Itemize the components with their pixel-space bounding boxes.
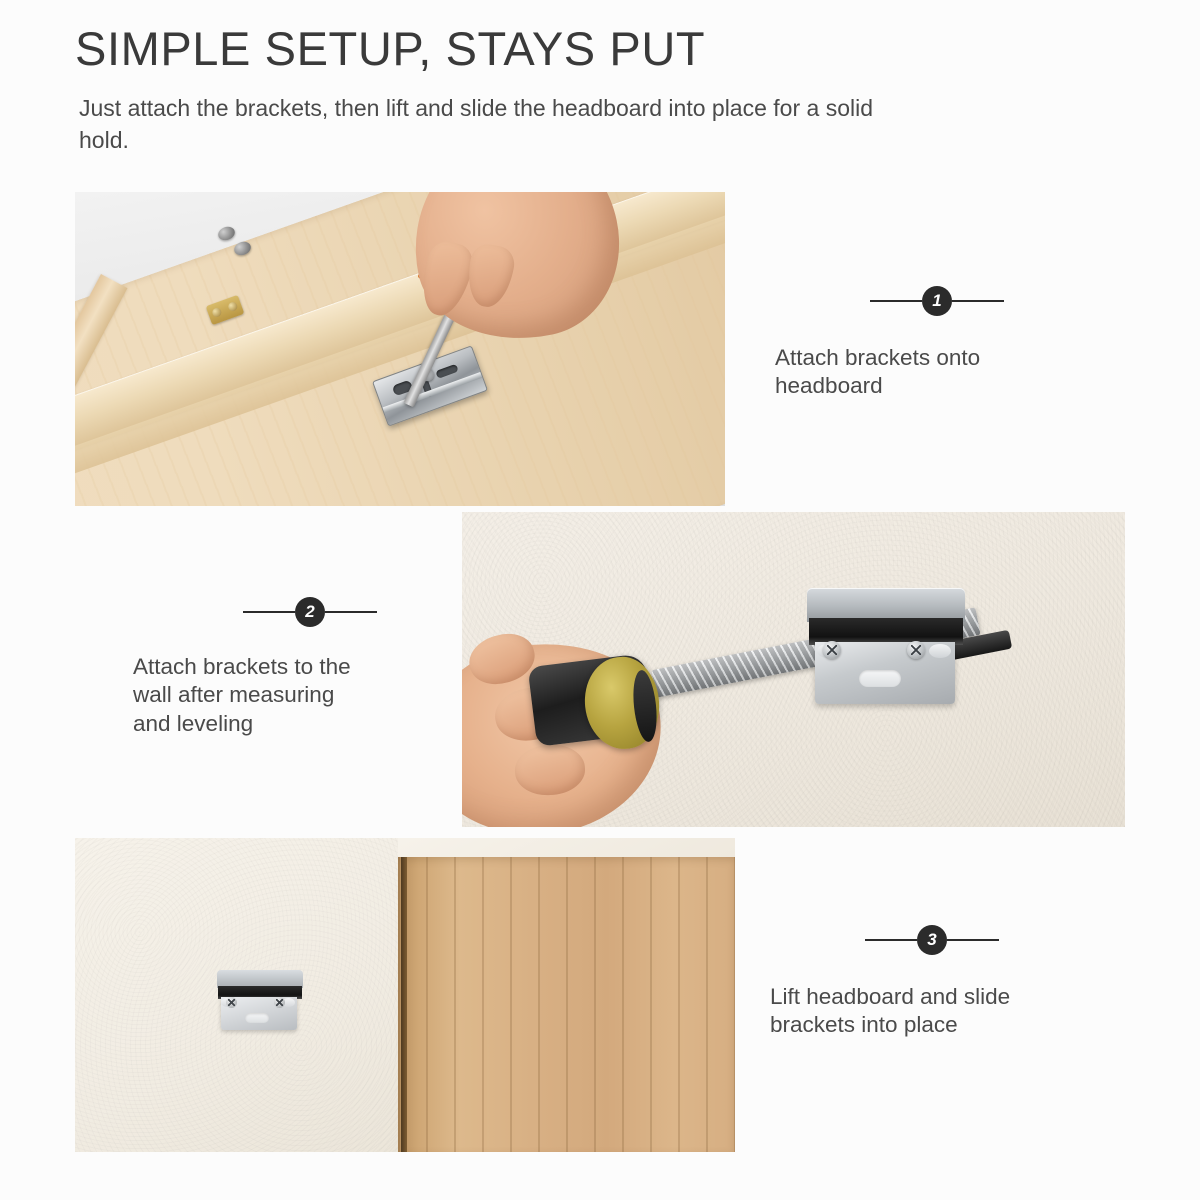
- badge-line-right: [952, 300, 1004, 302]
- badge-line-right: [325, 611, 377, 613]
- step-2-caption: 2 Attach brackets to the wall after meas…: [133, 597, 453, 738]
- wall-bracket: [807, 588, 965, 706]
- step-2-photo: [462, 512, 1125, 827]
- step-3-caption: 3 Lift headboard and slide brackets into…: [770, 925, 1100, 1040]
- step-number-badge: 3: [917, 925, 947, 955]
- page-title: SIMPLE SETUP, STAYS PUT: [75, 22, 1125, 76]
- screw-head-icon: [226, 997, 237, 1008]
- textured-wall-top-strip: [398, 838, 735, 857]
- step-3-text: Lift headboard and slide brackets into p…: [770, 983, 1100, 1040]
- step-2-badge-row: 2: [243, 597, 453, 627]
- step-3-badge-row: 3: [865, 925, 1100, 955]
- badge-line-left: [243, 611, 295, 613]
- bracket-oval-slot: [859, 670, 901, 687]
- step-2-text: Attach brackets to the wall after measur…: [133, 653, 453, 738]
- badge-line-right: [947, 939, 999, 941]
- slat-headboard-panel: [398, 857, 735, 1152]
- bracket-oval-slot: [245, 1013, 269, 1023]
- badge-line-left: [865, 939, 917, 941]
- step-1-badge-row: 1: [870, 286, 1105, 316]
- step-1-caption: 1 Attach brackets onto headboard: [775, 286, 1105, 401]
- screw-head-icon: [274, 997, 285, 1008]
- step-1-text: Attach brackets onto headboard: [775, 344, 1105, 401]
- step-number-badge: 1: [922, 286, 952, 316]
- wall-bracket: [217, 970, 303, 1032]
- page-subtitle: Just attach the brackets, then lift and …: [79, 92, 909, 157]
- screw-head-icon: [823, 641, 841, 659]
- step-3-photo: [75, 838, 735, 1152]
- step-1-photo: [75, 192, 725, 506]
- bracket-lip: [807, 588, 965, 622]
- badge-line-left: [870, 300, 922, 302]
- bracket-slot: [436, 363, 459, 378]
- headboard-panel-edge: [401, 857, 407, 1152]
- header: SIMPLE SETUP, STAYS PUT Just attach the …: [75, 22, 1125, 157]
- step-number-badge: 2: [295, 597, 325, 627]
- screw-head-icon: [907, 641, 925, 659]
- bracket-notch: [929, 644, 951, 658]
